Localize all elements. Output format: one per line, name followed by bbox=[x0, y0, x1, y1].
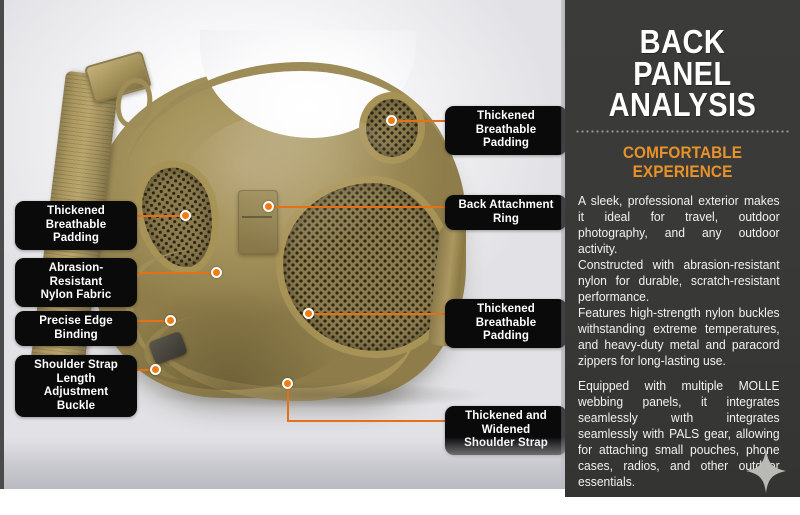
paragraph-buckles: Features high-strength nylon buckles wit… bbox=[578, 306, 780, 370]
sparkle-icon bbox=[746, 449, 786, 493]
info-panel: BACK PANEL ANALYSIS COMFORTABLE EXPERIEN… bbox=[565, 0, 800, 497]
marker-dot-back-attachment bbox=[263, 201, 274, 212]
callout-adjust-buckle[interactable]: Shoulder Strap Length Adjustment Buckle bbox=[15, 355, 137, 417]
infographic-root: Thickened Breathable Padding Back Attach… bbox=[0, 0, 800, 515]
page-title-line-1: BACK PANEL bbox=[590, 26, 776, 89]
paragraph-exterior: A sleek, professional exterior makes it … bbox=[578, 194, 780, 258]
bag-highlight bbox=[184, 110, 414, 260]
bottom-white-strip bbox=[0, 497, 800, 515]
marker-dot-mid-right-padding bbox=[303, 308, 314, 319]
callout-shoulder-strap[interactable]: Thickened and Widened Shoulder Strap bbox=[445, 406, 567, 455]
page-title-line-2: ANALYSIS bbox=[590, 89, 776, 121]
leader-line-mid-right-padding bbox=[314, 313, 447, 315]
marker-dot-edge-binding bbox=[165, 315, 176, 326]
marker-dot-top-right-padding bbox=[386, 115, 397, 126]
marker-dot-adjust-buckle bbox=[150, 364, 161, 375]
paragraph-nylon: Constructed with abrasion-resistant nylo… bbox=[578, 258, 780, 306]
callout-mid-right-padding[interactable]: Thickened Breathable Padding bbox=[445, 299, 567, 348]
leader-line-back-attachment bbox=[274, 206, 446, 208]
callout-back-attachment[interactable]: Back Attachment Ring bbox=[445, 195, 567, 230]
leader-line-shoulder-strap bbox=[287, 420, 449, 422]
leader-line-nylon-fabric bbox=[126, 272, 222, 274]
dotted-divider bbox=[575, 130, 790, 133]
callout-edge-binding[interactable]: Precise Edge Binding bbox=[15, 311, 137, 346]
body-copy: A sleek, professional exterior makes it … bbox=[565, 182, 800, 491]
title-block: BACK PANEL ANALYSIS bbox=[565, 0, 800, 121]
subtitle: COMFORTABLE EXPERIENCE bbox=[573, 144, 792, 182]
leader-line-top-right-padding bbox=[397, 120, 449, 122]
marker-dot-nylon-fabric bbox=[211, 267, 222, 278]
bag-shadow bbox=[114, 280, 344, 390]
ground-shadow bbox=[154, 382, 484, 408]
marker-dot-left-padding bbox=[180, 210, 191, 221]
callout-top-right-padding[interactable]: Thickened Breathable Padding bbox=[445, 106, 567, 155]
product-photo-panel: Thickened Breathable Padding Back Attach… bbox=[0, 0, 565, 489]
marker-dot-shoulder-strap bbox=[282, 378, 293, 389]
callout-nylon-fabric[interactable]: Abrasion-Resistant Nylon Fabric bbox=[15, 258, 137, 307]
callout-left-padding[interactable]: Thickened Breathable Padding bbox=[15, 201, 137, 250]
